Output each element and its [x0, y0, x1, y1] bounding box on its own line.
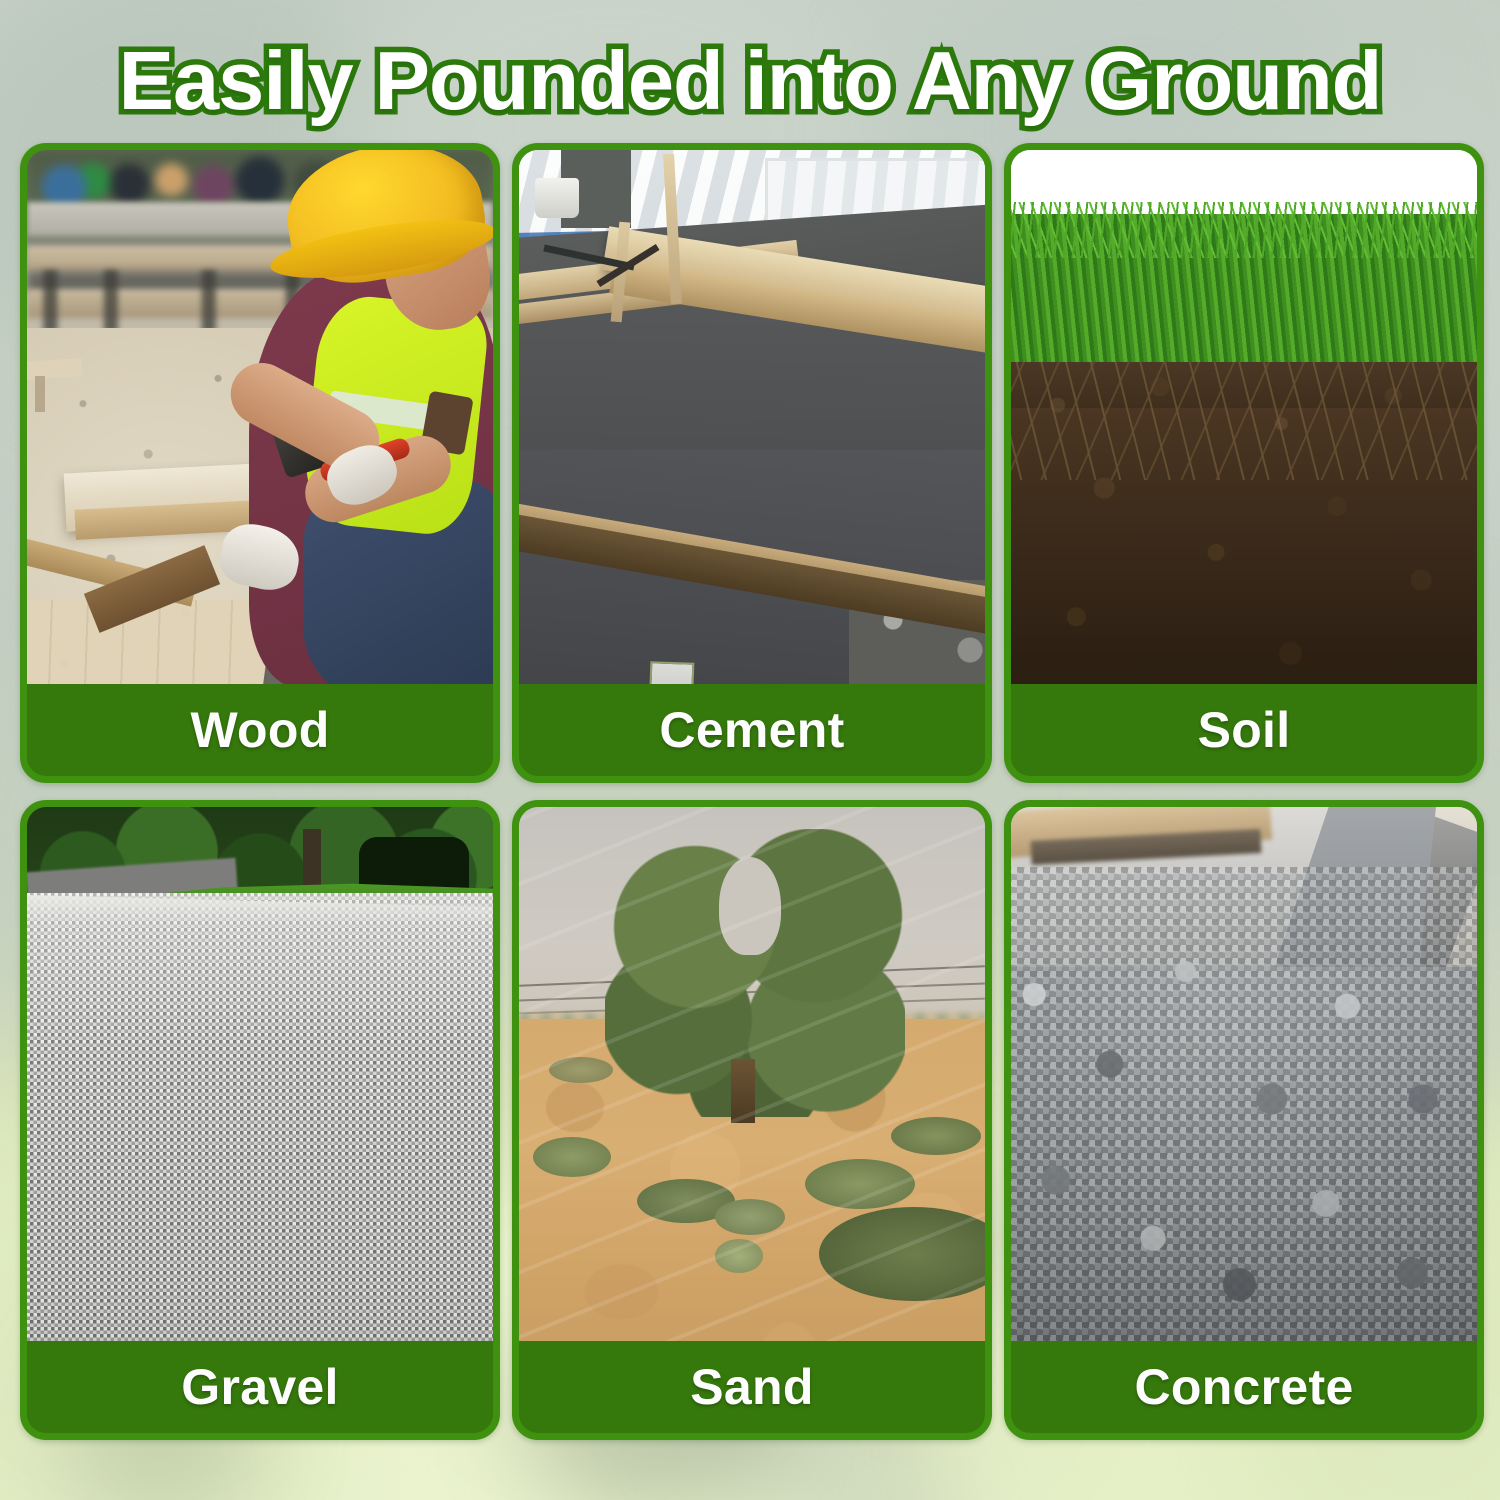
bucket — [535, 178, 579, 218]
ground-card-sand[interactable]: Sand — [512, 800, 992, 1440]
card-label-gravel: Gravel — [181, 1358, 338, 1416]
caption-bar-gravel: Gravel — [27, 1341, 493, 1433]
small-plank-leg — [35, 376, 45, 412]
photo-gravel — [27, 807, 493, 1341]
root-network — [1011, 350, 1477, 480]
watermark-overlay — [519, 807, 985, 1341]
caption-bar-cement: Cement — [519, 684, 985, 776]
photo-sand — [519, 807, 985, 1341]
photo-concrete — [1011, 807, 1477, 1341]
depth-shading — [1011, 807, 1477, 1341]
ground-card-cement[interactable]: Cement — [512, 143, 992, 783]
page-title: Easily Pounded into Any Ground — [119, 39, 1382, 122]
card-label-concrete: Concrete — [1134, 1358, 1353, 1416]
gravel-shading — [27, 893, 493, 1341]
metal-plate — [648, 661, 695, 684]
photo-soil — [1011, 150, 1477, 684]
grass-blades — [1011, 202, 1477, 258]
card-label-sand: Sand — [690, 1358, 813, 1416]
card-label-wood: Wood — [190, 701, 329, 759]
ground-card-concrete[interactable]: Concrete — [1004, 800, 1484, 1440]
caption-bar-wood: Wood — [27, 684, 493, 776]
ground-card-gravel[interactable]: Gravel — [20, 800, 500, 1440]
card-label-soil: Soil — [1198, 701, 1291, 759]
headline-banner: Easily Pounded into Any Ground — [0, 30, 1500, 130]
photo-wood — [27, 150, 493, 684]
photo-cement — [519, 150, 985, 684]
ground-type-grid: Wood Cemen — [20, 143, 1485, 1480]
ground-card-soil[interactable]: Soil — [1004, 143, 1484, 783]
card-label-cement: Cement — [659, 701, 844, 759]
ground-card-wood[interactable]: Wood — [20, 143, 500, 783]
caption-bar-sand: Sand — [519, 1341, 985, 1433]
caption-bar-concrete: Concrete — [1011, 1341, 1477, 1433]
caption-bar-soil: Soil — [1011, 684, 1477, 776]
